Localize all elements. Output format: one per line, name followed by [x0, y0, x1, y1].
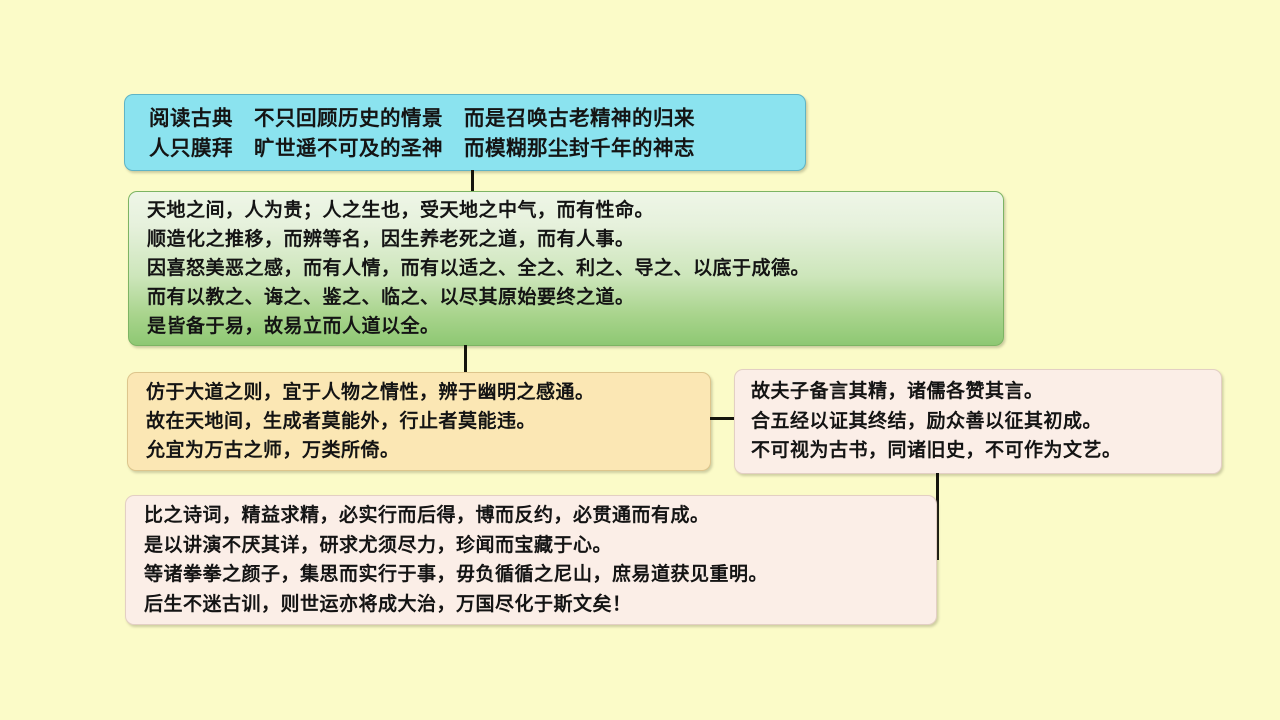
connector-classic-to-dao [464, 345, 467, 373]
classic-line-3: 因喜怒美恶之感，而有人情，而有以适之、全之、利之、导之、以底于成德。 [147, 254, 987, 283]
dao-line-1: 仿于大道之则，宜于人物之情性，辨于幽明之感通。 [146, 378, 696, 407]
poem-line-2: 人只膜拜 旷世遥不可及的圣神 而模糊那尘封千年的神志 [149, 133, 783, 163]
classic-line-4: 而有以教之、诲之、鉴之、临之、以尽其原始要终之道。 [147, 283, 987, 312]
dao-line-2: 故在天地间，生成者莫能外，行止者莫能违。 [146, 407, 696, 436]
study-line-2: 是以讲演不厌其详，研求尤须尽力，珍闻而宝藏于心。 [144, 531, 922, 561]
classic-line-2: 顺造化之推移，而辨等名，因生养老死之道，而有人事。 [147, 225, 987, 254]
classic-node[interactable]: 天地之间，人为贵；人之生也，受天地之中气，而有性命。 顺造化之推移，而辨等名，因… [128, 191, 1004, 346]
master-line-1: 故夫子备言其精，诸儒各赞其言。 [751, 377, 1207, 407]
study-line-3: 等诸拳拳之颜子，集思而实行于事，毋负循循之尼山，庶易道获见重明。 [144, 560, 922, 590]
dao-line-3: 允宜为万古之师，万类所倚。 [146, 436, 696, 465]
study-line-1: 比之诗词，精益求精，必实行而后得，博而反约，必贯通而有成。 [144, 501, 922, 531]
diagram-canvas: 阅读古典 不只回顾历史的情景 而是召唤古老精神的归来 人只膜拜 旷世遥不可及的圣… [0, 0, 1280, 720]
dao-node[interactable]: 仿于大道之则，宜于人物之情性，辨于幽明之感通。 故在天地间，生成者莫能外，行止者… [127, 372, 711, 471]
classic-line-1: 天地之间，人为贵；人之生也，受天地之中气，而有性命。 [147, 196, 987, 225]
connector-poem-to-classic [471, 170, 474, 192]
master-line-3: 不可视为古书，同诸旧史，不可作为文艺。 [751, 436, 1207, 466]
connector-dao-to-master [710, 417, 735, 420]
master-node[interactable]: 故夫子备言其精，诸儒各赞其言。 合五经以证其终结，励众善以征其初成。 不可视为古… [734, 369, 1222, 474]
poem-node[interactable]: 阅读古典 不只回顾历史的情景 而是召唤古老精神的归来 人只膜拜 旷世遥不可及的圣… [124, 94, 806, 171]
master-line-2: 合五经以证其终结，励众善以征其初成。 [751, 407, 1207, 437]
classic-line-5: 是皆备于易，故易立而人道以全。 [147, 312, 987, 341]
poem-line-1: 阅读古典 不只回顾历史的情景 而是召唤古老精神的归来 [149, 103, 783, 133]
study-node[interactable]: 比之诗词，精益求精，必实行而后得，博而反约，必贯通而有成。 是以讲演不厌其详，研… [125, 495, 937, 625]
study-line-4: 后生不迷古训，则世运亦将成大治，万国尽化于斯文矣！ [144, 590, 922, 620]
